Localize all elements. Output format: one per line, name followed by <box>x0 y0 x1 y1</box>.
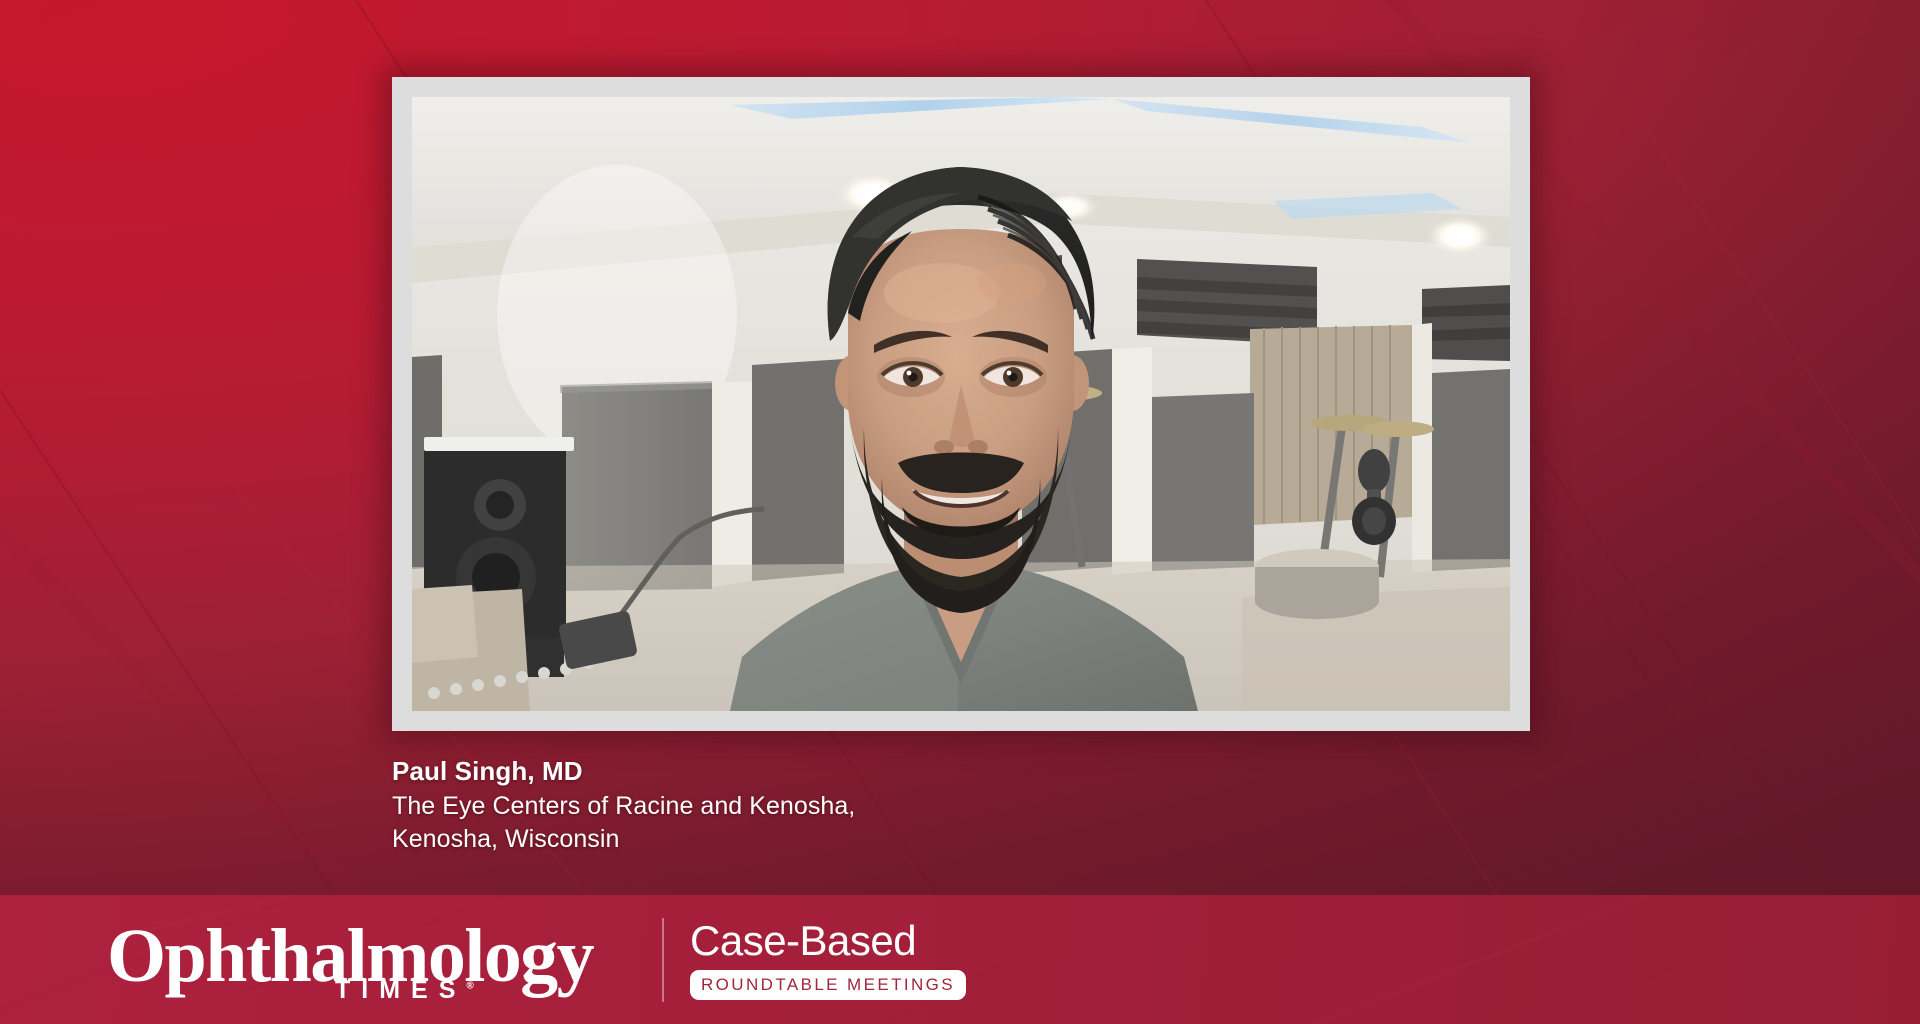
brand-subwordmark: TIMES® <box>335 976 474 1005</box>
brand-times-text: TIMES <box>335 976 466 1004</box>
program-pill-label: ROUNDTABLE MEETINGS <box>701 975 955 994</box>
speaker-affiliation-line-2: Kenosha, Wisconsin <box>392 823 1292 856</box>
footer-bar: Ophthalmology TIMES® Case-Based ROUNDTAB… <box>0 895 1920 1024</box>
video-frame[interactable] <box>392 77 1530 731</box>
presentation-slide: Paul Singh, MD The Eye Centers of Racine… <box>0 0 1920 1024</box>
speaker-name: Paul Singh, MD <box>392 755 1292 788</box>
case-based-roundtable-logo[interactable]: Case-Based ROUNDTABLE MEETINGS <box>690 920 926 1000</box>
speaker-caption: Paul Singh, MD The Eye Centers of Racine… <box>392 755 1292 855</box>
video-feed[interactable] <box>412 97 1510 711</box>
ophthalmology-times-logo[interactable]: Ophthalmology TIMES® <box>107 914 652 1006</box>
registered-mark: ® <box>466 980 473 991</box>
footer-branding: Ophthalmology TIMES® Case-Based ROUNDTAB… <box>107 895 926 1024</box>
program-title: Case-Based <box>690 920 926 962</box>
program-pill: ROUNDTABLE MEETINGS <box>690 970 966 1000</box>
speaker-affiliation-line-1: The Eye Centers of Racine and Kenosha, <box>392 790 1292 823</box>
logo-divider <box>662 918 664 1002</box>
